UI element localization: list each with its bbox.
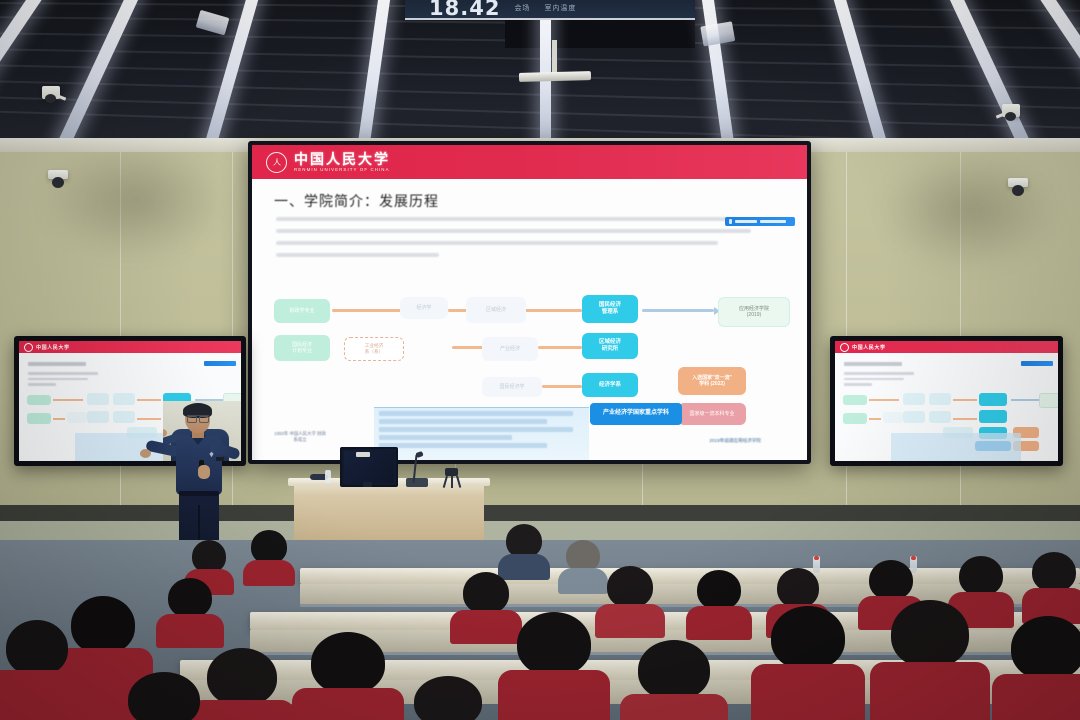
- slide-canvas: 人 中国人民大学 RENMIN UNIVERSITY OF CHINA 一、学院…: [252, 145, 807, 460]
- flow-node-n4: 经济学: [400, 297, 448, 319]
- audience-member: [0, 620, 80, 720]
- audience-member: [160, 578, 220, 642]
- flow-node-n9: 区域经济 研究所: [582, 333, 638, 359]
- presenter-left-hand: [140, 449, 151, 458]
- glasses-icon: [187, 415, 209, 421]
- tripod-camera: [442, 468, 460, 482]
- side-badge: [1021, 361, 1053, 366]
- podium: [294, 481, 484, 548]
- audience-member: [600, 566, 660, 632]
- ruc-seal-icon: [840, 343, 849, 352]
- podium-bottle: [325, 470, 331, 483]
- presenter: [168, 405, 238, 555]
- flow-node-n10: 经济学系: [582, 373, 638, 397]
- brand-name-cn: 中国人民大学: [294, 152, 390, 166]
- flow-node-n11: 应用经济学院 (2019): [718, 297, 790, 327]
- flow-node-n13: 国家级一流本科专业: [678, 403, 746, 425]
- brand-name-cn: 中国人民大学: [36, 344, 70, 351]
- flow-connector: [642, 309, 714, 312]
- monitor-label: [356, 452, 370, 457]
- flow-node-n5: 区域经济: [466, 297, 526, 323]
- ceiling: [0, 0, 1080, 152]
- audience-member: [1000, 616, 1080, 720]
- slide-brand-header: 人 中国人民大学 RENMIN UNIVERSITY OF CHINA: [252, 145, 807, 179]
- flow-node-n12: 入选国家"双一流" 学科 (2022): [678, 367, 746, 395]
- flow-connector: [332, 309, 402, 312]
- slide-badge: [725, 217, 795, 226]
- flow-connector: [538, 346, 582, 349]
- ceiling-projector: [519, 71, 591, 82]
- ruc-seal-icon: 人: [266, 152, 287, 173]
- presenter-right-hand: [198, 465, 210, 479]
- slide-footer-mark: 1950年 中国人民大学 财政系成立: [274, 431, 326, 444]
- side-table-overlay: [891, 433, 1021, 461]
- side-display-right[interactable]: 中国人民大学: [830, 336, 1063, 466]
- flow-node-n8: 国民经济 管理系: [582, 295, 638, 323]
- audience-member: [300, 632, 396, 720]
- wristwatch: [216, 457, 224, 461]
- ruc-seal-icon: [24, 343, 33, 352]
- audience-member: [506, 612, 602, 720]
- clock-time: 18.42: [429, 0, 500, 20]
- slide-footnote: 2019年组建应用经济学院: [709, 438, 761, 444]
- monitor-stand: [363, 482, 372, 487]
- clock-label-left: 会场: [514, 3, 530, 13]
- wall-camera-left-lower: [48, 170, 74, 194]
- brand-name-cn: 中国人民大学: [852, 344, 886, 351]
- flow-node-n2: 国民经济 计划专业: [274, 335, 330, 361]
- flow-node-n14: 产业经济学国家重点学科: [590, 403, 682, 425]
- slide-body-text: [276, 217, 756, 265]
- main-presentation-screen[interactable]: 人 中国人民大学 RENMIN UNIVERSITY OF CHINA 一、学院…: [248, 141, 811, 464]
- lecture-hall-photo: 18.42 会场 室内温度 人 中国人民大学 RENMIN UNIV: [0, 0, 1080, 720]
- flow-node-n7: 国民经济学: [482, 377, 542, 397]
- wall-camera-right-upper: [1002, 104, 1028, 126]
- wall-base-trim: [0, 505, 1080, 521]
- microphone-base: [406, 478, 428, 487]
- audience-member: [690, 570, 748, 634]
- flow-connector: [524, 309, 582, 312]
- side-badge: [204, 361, 236, 366]
- wall-camera-right-lower: [1008, 178, 1034, 202]
- flow-connector: [452, 346, 486, 349]
- clock-label-right: 室内温度: [544, 3, 576, 13]
- audience-member: [246, 530, 292, 582]
- audience-member: [1026, 552, 1080, 618]
- audience-member: [404, 676, 492, 720]
- audience-member: [880, 600, 980, 720]
- slide-title: 一、学院简介：发展历程: [274, 191, 439, 211]
- audience-member: [628, 640, 720, 720]
- audience-member: [760, 606, 856, 720]
- audience-member: [118, 672, 210, 720]
- seal-glyph: 人: [273, 157, 280, 168]
- slide-table-overlay: [374, 407, 589, 460]
- shirt-logo-icon: [208, 451, 215, 458]
- audience-member: [500, 524, 548, 574]
- flow-connector: [542, 385, 582, 388]
- flow-node-n6: 产业经济: [482, 337, 538, 361]
- brand-name-en: RENMIN UNIVERSITY OF CHINA: [294, 168, 390, 172]
- wall-camera-left-upper: [42, 86, 68, 108]
- flow-node-n3: 工业经济 系（系）: [344, 337, 404, 361]
- flow-node-n1: 财政学专业: [274, 299, 330, 323]
- hall-clock-display: 18.42 会场 室内温度: [405, 0, 695, 20]
